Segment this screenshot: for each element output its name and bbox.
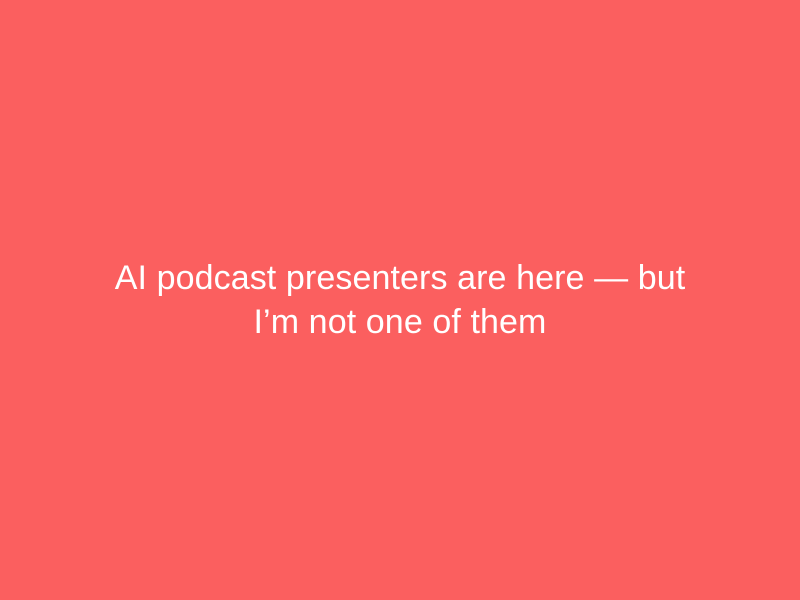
hero-content: AI podcast presenters are here — but I’m… [0,256,800,344]
page-title: AI podcast presenters are here — but I’m… [90,256,710,344]
hero-card: AI podcast presenters are here — but I’m… [0,0,800,600]
